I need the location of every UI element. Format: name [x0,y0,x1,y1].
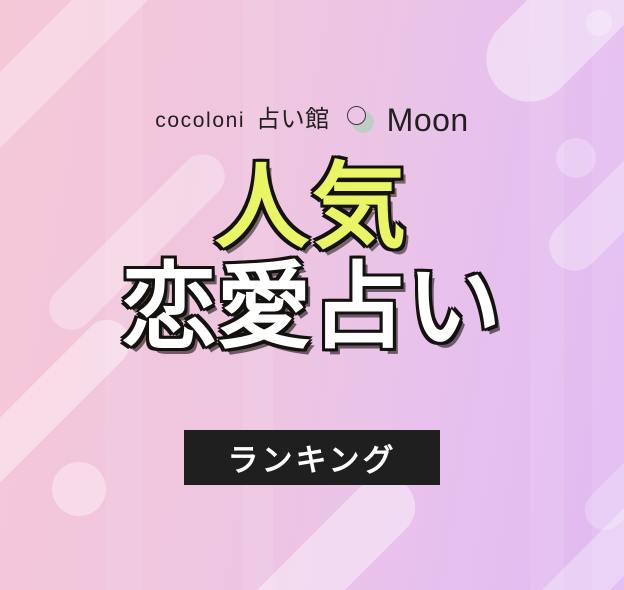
brand-logo-lockup: cocoloni 占い館 Moon [0,104,624,136]
brand-name: cocoloni [155,110,245,131]
ranking-tag-container: ランキング [0,430,624,485]
headline-line-1: 人気 [0,160,624,254]
decorative-dot [586,10,612,36]
diagonal-bar [469,0,624,119]
ranking-tag[interactable]: ランキング [184,430,440,485]
product-name: Moon [387,104,469,136]
shop-name: 占い館 [256,108,330,132]
crescent-moon-icon [345,105,375,135]
promo-banner: cocoloni 占い館 Moon 人気 恋愛占い ランキング [0,0,624,590]
moon-ring-shape [347,106,366,125]
headline: 人気 恋愛占い [0,160,624,354]
headline-line-2: 恋愛占い [0,260,624,354]
